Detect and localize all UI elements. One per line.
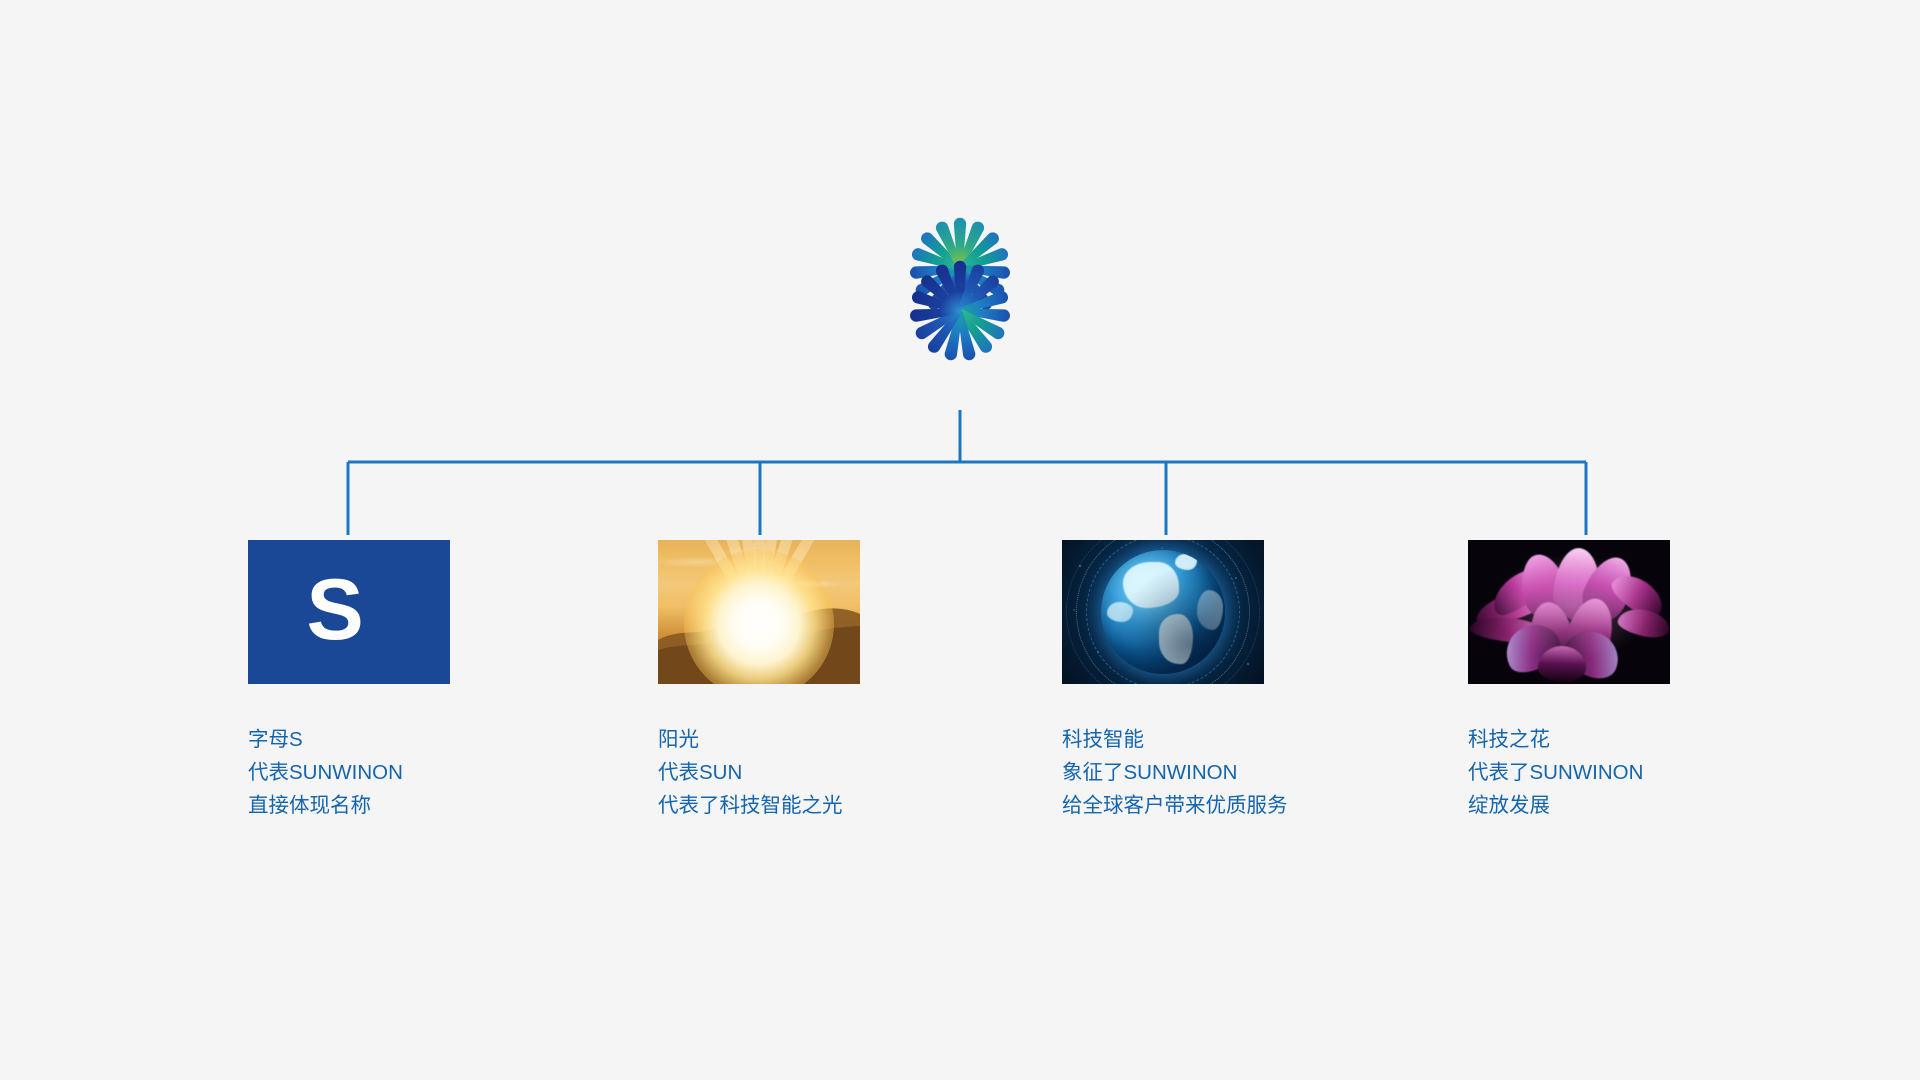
- branch-card-tech-flower[interactable]: [1468, 540, 1670, 684]
- digital-globe-photo[interactable]: [1062, 540, 1264, 684]
- flower-glow: [1468, 540, 1670, 684]
- caption-line-1: 科技智能: [1062, 723, 1288, 756]
- caption-line-2: 象征了SUNWINON: [1062, 756, 1288, 789]
- caption-line-3: 给全球客户带来优质服务: [1062, 789, 1288, 822]
- sunwinon-logo-svg: [855, 195, 1065, 375]
- branch-card-letter-s[interactable]: S: [248, 540, 450, 684]
- branch-card-sunlight[interactable]: [658, 540, 860, 684]
- caption-tech-flower: 科技之花 代表了SUNWINON 绽放发展: [1468, 723, 1643, 822]
- caption-tech-intelligence: 科技智能 象征了SUNWINON 给全球客户带来优质服务: [1062, 723, 1288, 822]
- globe-shading: [1101, 550, 1225, 674]
- caption-line-2: 代表SUNWINON: [248, 756, 403, 789]
- sunrise-photo[interactable]: [658, 540, 860, 684]
- caption-sunlight: 阳光 代表SUN 代表了科技智能之光: [658, 723, 843, 822]
- diagram-canvas: S 字母S 代表SUNWINON 直接体现名称: [0, 0, 1920, 1080]
- globe-sphere: [1101, 550, 1225, 674]
- caption-line-2: 代表SUN: [658, 756, 843, 789]
- caption-line-1: 阳光: [658, 723, 843, 756]
- letter-s-tile[interactable]: S: [248, 540, 450, 684]
- caption-line-2: 代表了SUNWINON: [1468, 756, 1643, 789]
- caption-line-1: 字母S: [248, 723, 403, 756]
- letter-s-glyph: S: [306, 567, 363, 653]
- caption-line-1: 科技之花: [1468, 723, 1643, 756]
- caption-letter-s: 字母S 代表SUNWINON 直接体现名称: [248, 723, 403, 822]
- caption-line-3: 直接体现名称: [248, 789, 403, 822]
- caption-line-3: 绽放发展: [1468, 789, 1643, 822]
- magenta-flower-photo[interactable]: [1468, 540, 1670, 684]
- sunwinon-logo: [855, 195, 1065, 375]
- caption-line-3: 代表了科技智能之光: [658, 789, 843, 822]
- branch-card-tech-intelligence[interactable]: [1062, 540, 1264, 684]
